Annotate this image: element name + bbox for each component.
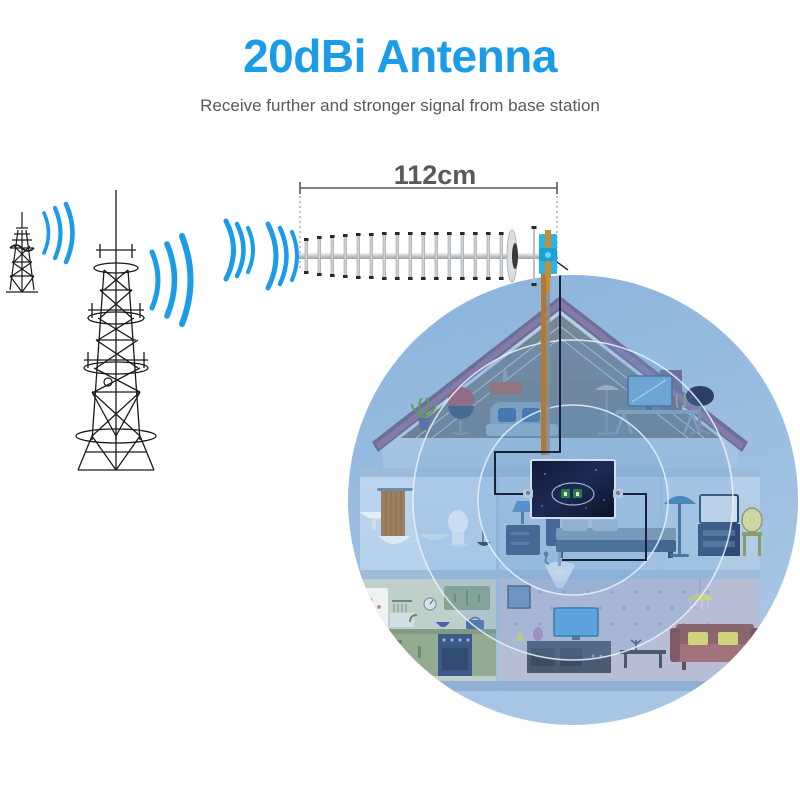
- dimension-bracket: [300, 182, 557, 194]
- signal-booster: [523, 460, 623, 518]
- tower-far-waves: [44, 204, 73, 262]
- cell-tower-far: [6, 212, 38, 292]
- cell-tower-near: [76, 190, 156, 470]
- outdoor-mast: [541, 270, 550, 455]
- infographic-canvas: 20dBi Antenna Receive further and strong…: [0, 0, 800, 800]
- cushion: [718, 632, 738, 645]
- tower-near-waves: [152, 236, 191, 324]
- fridge: [362, 588, 388, 666]
- antenna-mount: [539, 230, 568, 278]
- yagi-antenna: [298, 182, 568, 292]
- signal-waves-far: [226, 221, 253, 279]
- booster-port: [523, 489, 533, 498]
- chair: [742, 508, 762, 532]
- sofa: [676, 624, 754, 646]
- diagram-artwork: [0, 0, 800, 800]
- signal-waves-near: [268, 224, 297, 288]
- yagi-reflector: [507, 230, 518, 282]
- booster-port: [613, 489, 623, 498]
- cushion: [688, 632, 708, 645]
- kitchen-counter: [382, 634, 438, 676]
